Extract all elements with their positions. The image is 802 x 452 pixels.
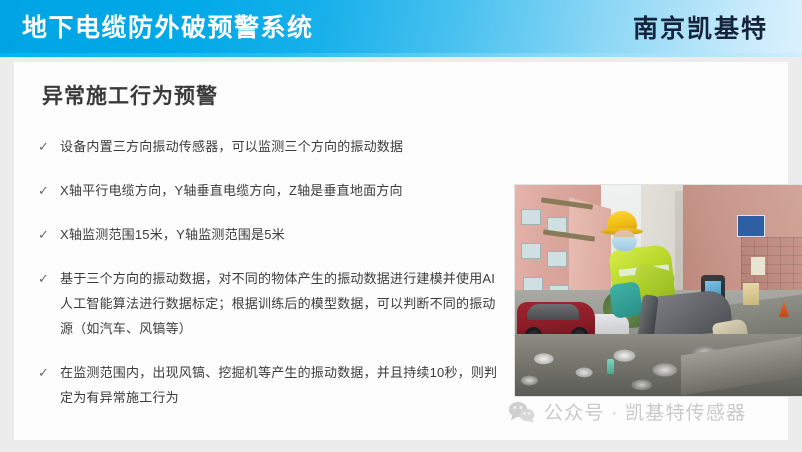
- slide: 地下电缆防外破预警系统 南京凯基特 异常施工行为预警 ✓ 设备内置三方向振动传感…: [0, 0, 802, 452]
- photo-tool-bag: [743, 283, 759, 305]
- construction-photo: [514, 184, 802, 397]
- list-item-text: X轴平行电缆方向，Y轴垂直电缆方向，Z轴是垂直地面方向: [60, 178, 508, 203]
- photo-wall-sign: [737, 215, 765, 237]
- slide-header: 地下电缆防外破预警系统 南京凯基特: [0, 0, 802, 57]
- photo-window: [547, 251, 567, 267]
- page-title: 地下电缆防外破预警系统: [22, 10, 314, 46]
- check-icon: ✓: [38, 222, 49, 247]
- content-card: 异常施工行为预警 ✓ 设备内置三方向振动传感器，可以监测三个方向的振动数据 ✓ …: [14, 62, 788, 440]
- list-item: ✓ X轴平行电缆方向，Y轴垂直电缆方向，Z轴是垂直地面方向: [38, 178, 508, 203]
- check-icon: ✓: [38, 360, 49, 385]
- brand-name: 南京凯基特: [633, 12, 768, 46]
- wechat-icon: [508, 401, 535, 423]
- list-item-text: 设备内置三方向振动传感器，可以监测三个方向的振动数据: [60, 134, 508, 159]
- photo-window: [521, 243, 541, 259]
- check-icon: ✓: [38, 134, 49, 159]
- photo-window: [521, 209, 541, 225]
- photo-wall-notice: [751, 257, 765, 275]
- section-title: 异常施工行为预警: [42, 80, 218, 110]
- list-item-text: 在监测范围内，出现风镐、挖掘机等产生的振动数据，并且持续10秒，则判定为有异常施…: [60, 360, 508, 410]
- check-icon: ✓: [38, 266, 49, 291]
- bullet-list: ✓ 设备内置三方向振动传感器，可以监测三个方向的振动数据 ✓ X轴平行电缆方向，…: [38, 134, 508, 429]
- photo-bottle: [607, 359, 614, 374]
- list-item-text: 基于三个方向的振动数据，对不同的物体产生的振动数据进行建模并使用AI人工智能算法…: [60, 266, 508, 341]
- watermark: 公众号 · 凯基特传感器: [508, 398, 746, 425]
- photo-car-window: [527, 304, 579, 320]
- header-underline: [0, 53, 802, 57]
- watermark-text: 公众号 · 凯基特传感器: [544, 398, 746, 425]
- list-item: ✓ X轴监测范围15米，Y轴监测范围是5米: [38, 222, 508, 247]
- photo-worker-bag: [609, 281, 643, 319]
- check-icon: ✓: [38, 178, 49, 203]
- list-item: ✓ 设备内置三方向振动传感器，可以监测三个方向的振动数据: [38, 134, 508, 159]
- list-item: ✓ 在监测范围内，出现风镐、挖掘机等产生的振动数据，并且持续10秒，则判定为有异…: [38, 360, 508, 410]
- list-item-text: X轴监测范围15米，Y轴监测范围是5米: [60, 222, 508, 247]
- list-item: ✓ 基于三个方向的振动数据，对不同的物体产生的振动数据进行建模并使用AI人工智能…: [38, 266, 508, 341]
